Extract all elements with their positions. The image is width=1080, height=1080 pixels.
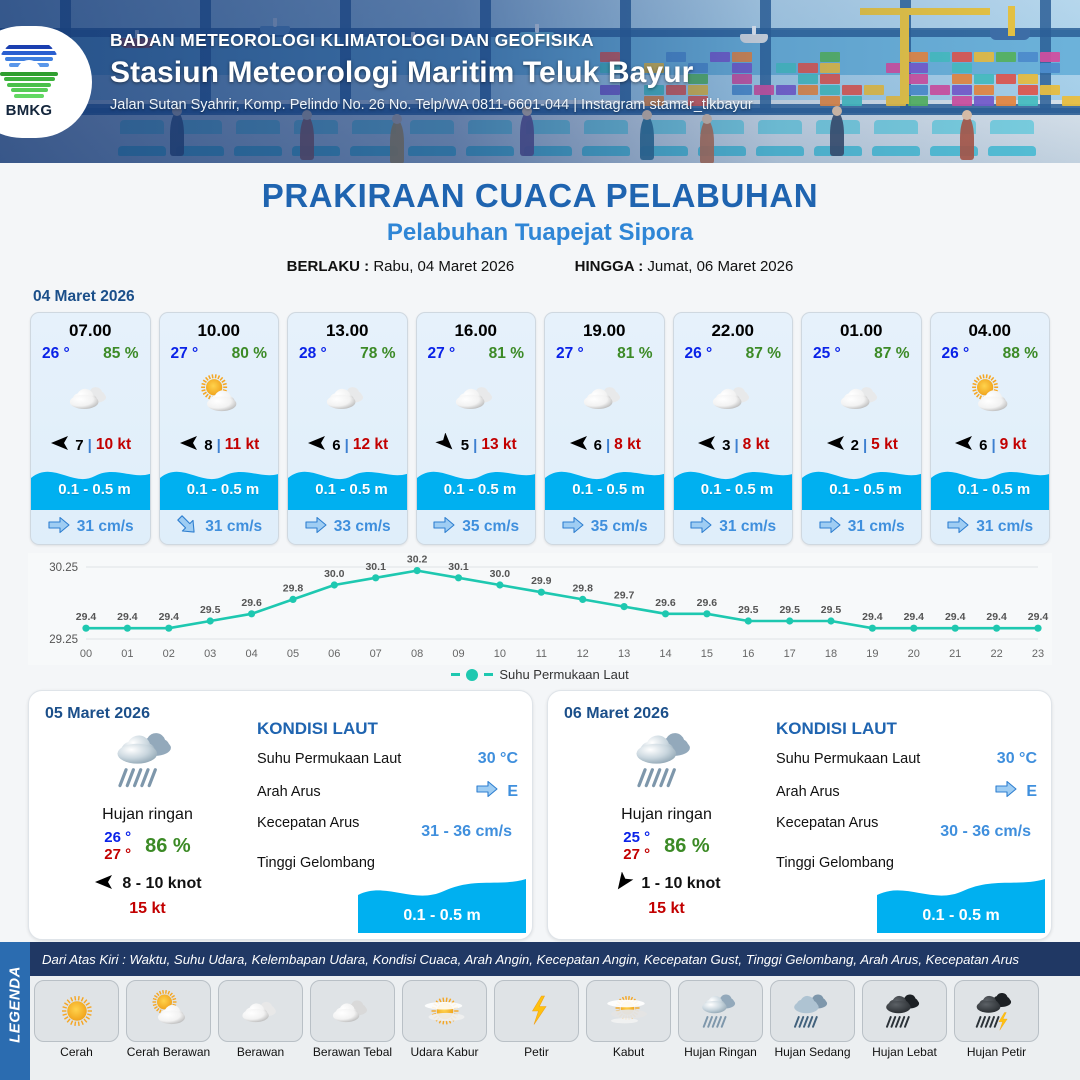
- daily-gust: 15 kt: [45, 900, 250, 918]
- card-gust: 10 kt: [96, 436, 131, 454]
- svg-text:29.6: 29.6: [655, 597, 676, 609]
- svg-text:01: 01: [121, 648, 133, 660]
- card-wave-height: 0.1 - 0.5 m: [288, 481, 408, 498]
- hourly-forecast-row: 07.0026 °85 %7|10 kt0.1 - 0.5 m31 cm/s10…: [0, 306, 1080, 545]
- card-wave: 0.1 - 0.5 m: [288, 462, 407, 510]
- card-wave: 0.1 - 0.5 m: [802, 462, 921, 510]
- card-humidity: 88 %: [1003, 345, 1038, 363]
- legend-item-label: Hujan Lebat: [862, 1045, 947, 1059]
- berawan-icon: [288, 366, 407, 428]
- svg-text:30.0: 30.0: [324, 568, 345, 580]
- hourly-card[interactable]: 07.0026 °85 %7|10 kt0.1 - 0.5 m31 cm/s: [30, 312, 151, 545]
- hujan-petir-icon: [954, 980, 1039, 1042]
- svg-text:00: 00: [80, 648, 92, 660]
- svg-text:08: 08: [411, 648, 423, 660]
- separator: |: [345, 437, 349, 454]
- svg-text:18: 18: [825, 648, 837, 660]
- legend-item-label: Petir: [494, 1045, 579, 1059]
- legend-item-label: Udara Kabur: [402, 1045, 487, 1059]
- legend-item: Hujan Petir: [954, 980, 1039, 1059]
- card-temperature: 25 °: [813, 345, 841, 363]
- legend-item: Cerah Berawan: [126, 980, 211, 1059]
- berawan-icon: [218, 980, 303, 1042]
- svg-text:29.5: 29.5: [738, 604, 759, 616]
- bmkg-logo-label: BMKG: [0, 102, 67, 119]
- hujan-sedang-icon: [770, 980, 855, 1042]
- card-current-speed: 31 cm/s: [976, 518, 1033, 536]
- svg-text:29.4: 29.4: [945, 611, 966, 623]
- cerah-icon: [34, 980, 119, 1042]
- svg-text:29.6: 29.6: [697, 597, 718, 609]
- valid-from-label: BERLAKU :: [287, 258, 370, 275]
- hourly-card[interactable]: 22.0026 °87 %3|8 kt0.1 - 0.5 m31 cm/s: [673, 312, 794, 545]
- kabut-icon: [586, 980, 671, 1042]
- hujan-lebat-icon: [862, 980, 947, 1042]
- wind-direction-icon: [825, 433, 847, 458]
- svg-text:22: 22: [990, 648, 1002, 660]
- petir-icon: [494, 980, 579, 1042]
- svg-text:29.9: 29.9: [531, 575, 552, 587]
- svg-text:11: 11: [536, 648, 547, 660]
- wind-direction-icon: [612, 872, 634, 897]
- legend-item-label: Hujan Sedang: [770, 1045, 855, 1059]
- svg-text:29.4: 29.4: [904, 611, 925, 623]
- current-direction-icon: [561, 515, 585, 540]
- current-direction-value: E: [1026, 783, 1037, 801]
- card-temperature: 26 °: [42, 345, 70, 363]
- wind-direction-icon: [696, 433, 718, 458]
- berawan-icon: [802, 366, 921, 428]
- wave-height-label: Tinggi Gelombang: [257, 855, 375, 871]
- card-temperature: 27 °: [428, 345, 456, 363]
- legend-item: Udara Kabur: [402, 980, 487, 1059]
- legend-line-icon: [451, 673, 460, 676]
- card-temperature: 27 °: [556, 345, 584, 363]
- current-direction-icon: [475, 779, 499, 804]
- card-temperature: 27 °: [171, 345, 199, 363]
- daily-temp-min: 25 °: [623, 829, 650, 846]
- svg-text:29.25: 29.25: [49, 634, 78, 646]
- svg-text:30.1: 30.1: [365, 561, 386, 573]
- separator: |: [473, 437, 477, 454]
- wind-direction-icon: [306, 433, 328, 458]
- validity-range: BERLAKU : Rabu, 04 Maret 2026 HINGGA : J…: [0, 258, 1080, 275]
- valid-from-value: Rabu, 04 Maret 2026: [373, 258, 514, 275]
- card-time: 22.00: [674, 313, 793, 341]
- udara-kabur-icon: [402, 980, 487, 1042]
- card-time: 01.00: [802, 313, 921, 341]
- current-speed-value: 30 - 36 cm/s: [940, 823, 1031, 841]
- daily-panels: 05 Maret 2026Hujan ringan26 °27 °86 %8 -…: [0, 682, 1080, 940]
- sst-chart: 30.2529.2529.40029.40129.40229.50329.604…: [28, 553, 1052, 665]
- legend-side-bar: LEGENDA: [0, 942, 30, 1080]
- daily-forecast-panel[interactable]: 05 Maret 2026Hujan ringan26 °27 °86 %8 -…: [28, 690, 533, 940]
- legend-item-label: Cerah Berawan: [126, 1045, 211, 1059]
- legend-item: Hujan Ringan: [678, 980, 763, 1059]
- svg-text:14: 14: [659, 648, 671, 660]
- hujan-ringan-icon: [564, 721, 769, 804]
- legend-item: Petir: [494, 980, 579, 1059]
- wind-direction-icon: [178, 433, 200, 458]
- card-wave-height: 0.1 - 0.5 m: [160, 481, 280, 498]
- daily-humidity: 86 %: [664, 835, 710, 858]
- current-speed-label: Kecepatan Arus: [257, 815, 359, 831]
- daily-wave-value: 0.1 - 0.5 m: [358, 907, 526, 925]
- sst-legend-label: Suhu Permukaan Laut: [499, 667, 628, 682]
- card-humidity: 81 %: [617, 345, 652, 363]
- card-gust: 9 kt: [1000, 436, 1027, 454]
- legend-item-label: Cerah: [34, 1045, 119, 1059]
- sst-label: Suhu Permukaan Laut: [257, 751, 401, 767]
- separator: |: [991, 437, 995, 454]
- daily-temp-min: 26 °: [104, 829, 131, 846]
- legend-item: Berawan: [218, 980, 303, 1059]
- separator: |: [217, 437, 221, 454]
- card-time: 19.00: [545, 313, 664, 341]
- card-wave-height: 0.1 - 0.5 m: [931, 481, 1051, 498]
- card-temperature: 26 °: [685, 345, 713, 363]
- card-humidity: 78 %: [360, 345, 395, 363]
- daily-condition: Hujan ringan: [564, 806, 769, 824]
- daily-humidity: 86 %: [145, 835, 191, 858]
- wind-direction-icon: [568, 433, 590, 458]
- card-wind-direction: 6: [332, 437, 340, 454]
- hourly-card[interactable]: 01.0025 °87 %2|5 kt0.1 - 0.5 m31 cm/s: [801, 312, 922, 545]
- svg-text:17: 17: [784, 648, 796, 660]
- agency-name: BADAN METEOROLOGI KLIMATOLOGI DAN GEOFIS…: [110, 30, 753, 51]
- legend-item-list: CerahCerah BerawanBerawanBerawan TebalUd…: [34, 980, 1074, 1059]
- svg-text:03: 03: [204, 648, 216, 660]
- daily-condition: Hujan ringan: [45, 806, 250, 824]
- legend-line-icon: [484, 673, 493, 676]
- hourly-date-label: 04 Maret 2026: [33, 288, 1080, 306]
- legend-item: Kabut: [586, 980, 671, 1059]
- legend-item: Hujan Lebat: [862, 980, 947, 1059]
- svg-text:29.8: 29.8: [283, 582, 304, 594]
- svg-text:29.7: 29.7: [614, 590, 635, 602]
- card-humidity: 87 %: [746, 345, 781, 363]
- card-wind-direction: 7: [75, 437, 83, 454]
- current-direction-icon: [175, 515, 199, 540]
- title-block: PRAKIRAAN CUACA PELABUHAN Pelabuhan Tuap…: [0, 163, 1080, 275]
- card-current-speed: 35 cm/s: [462, 518, 519, 536]
- legend-note: Dari Atas Kiri : Waktu, Suhu Udara, Kele…: [42, 952, 1019, 967]
- legend-strip: LEGENDA Dari Atas Kiri : Waktu, Suhu Uda…: [0, 942, 1080, 1080]
- hujan-ringan-icon: [45, 721, 250, 804]
- daily-wind-speed: 8 - 10 knot: [122, 875, 201, 893]
- page-header: BMKG BADAN METEOROLOGI KLIMATOLOGI DAN G…: [0, 0, 1080, 163]
- hujan-ringan-icon: [678, 980, 763, 1042]
- card-gust: 5 kt: [871, 436, 898, 454]
- valid-until-value: Jumat, 06 Maret 2026: [647, 258, 793, 275]
- card-humidity: 87 %: [874, 345, 909, 363]
- current-speed-value: 31 - 36 cm/s: [421, 823, 512, 841]
- sst-chart-legend: Suhu Permukaan Laut: [0, 667, 1080, 682]
- bmkg-logo-mark: [0, 38, 61, 102]
- card-time: 10.00: [160, 313, 279, 341]
- svg-text:29.4: 29.4: [1028, 611, 1049, 623]
- berawan-icon: [545, 366, 664, 428]
- svg-text:02: 02: [163, 648, 175, 660]
- wind-direction-icon: [435, 433, 457, 458]
- svg-text:20: 20: [908, 648, 920, 660]
- current-direction-icon: [432, 515, 456, 540]
- cerah-berawan-icon: [126, 980, 211, 1042]
- svg-text:29.4: 29.4: [986, 611, 1007, 623]
- current-direction-label: Arah Arus: [776, 784, 840, 800]
- card-temperature: 28 °: [299, 345, 327, 363]
- svg-text:07: 07: [370, 648, 382, 660]
- station-address: Jalan Sutan Syahrir, Komp. Pelindo No. 2…: [110, 97, 753, 113]
- svg-text:15: 15: [701, 648, 713, 660]
- daily-wind-speed: 1 - 10 knot: [641, 875, 720, 893]
- legend-note-bar: Dari Atas Kiri : Waktu, Suhu Udara, Kele…: [30, 942, 1080, 976]
- card-wave: 0.1 - 0.5 m: [545, 462, 664, 510]
- card-wave: 0.1 - 0.5 m: [417, 462, 536, 510]
- card-gust: 13 kt: [481, 436, 516, 454]
- svg-text:10: 10: [494, 648, 506, 660]
- card-time: 04.00: [931, 313, 1050, 341]
- card-time: 16.00: [417, 313, 536, 341]
- station-name: Stasiun Meteorologi Maritim Teluk Bayur: [110, 56, 753, 90]
- legend-item-label: Kabut: [586, 1045, 671, 1059]
- card-wave: 0.1 - 0.5 m: [160, 462, 279, 510]
- page-title: PRAKIRAAN CUACA PELABUHAN: [0, 177, 1080, 215]
- svg-text:06: 06: [328, 648, 340, 660]
- daily-wave-badge: 0.1 - 0.5 m: [358, 877, 526, 933]
- svg-text:29.4: 29.4: [117, 611, 138, 623]
- svg-text:29.5: 29.5: [200, 604, 221, 616]
- card-wave-height: 0.1 - 0.5 m: [31, 481, 151, 498]
- svg-text:30.25: 30.25: [49, 562, 78, 574]
- card-gust: 8 kt: [743, 436, 770, 454]
- svg-text:29.5: 29.5: [821, 604, 842, 616]
- sea-conditions-title: KONDISI LAUT: [257, 719, 518, 739]
- legend-item: Cerah: [34, 980, 119, 1059]
- current-direction-icon: [994, 779, 1018, 804]
- daily-gust: 15 kt: [564, 900, 769, 918]
- legend-item-label: Berawan Tebal: [310, 1045, 395, 1059]
- card-humidity: 80 %: [232, 345, 267, 363]
- wind-direction-icon: [93, 872, 115, 897]
- berawan-tebal-icon: [310, 980, 395, 1042]
- hourly-card[interactable]: 16.0027 °81 %5|13 kt0.1 - 0.5 m35 cm/s: [416, 312, 537, 545]
- current-speed-label: Kecepatan Arus: [776, 815, 878, 831]
- separator: |: [88, 437, 92, 454]
- hourly-card[interactable]: 13.0028 °78 %6|12 kt0.1 - 0.5 m33 cm/s: [287, 312, 408, 545]
- card-temperature: 26 °: [942, 345, 970, 363]
- daily-wave-badge: 0.1 - 0.5 m: [877, 877, 1045, 933]
- current-direction-label: Arah Arus: [257, 784, 321, 800]
- daily-forecast-panel[interactable]: 06 Maret 2026Hujan ringan25 °27 °86 %1 -…: [547, 690, 1052, 940]
- card-wave: 0.1 - 0.5 m: [674, 462, 793, 510]
- card-time: 13.00: [288, 313, 407, 341]
- card-current-speed: 33 cm/s: [334, 518, 391, 536]
- svg-text:12: 12: [577, 648, 589, 660]
- sea-conditions-title: KONDISI LAUT: [776, 719, 1037, 739]
- legend-item: Berawan Tebal: [310, 980, 395, 1059]
- current-direction-icon: [818, 515, 842, 540]
- legend-dot-icon: [466, 669, 478, 681]
- daily-temp-max: 27 °: [104, 846, 131, 863]
- card-current-speed: 31 cm/s: [77, 518, 134, 536]
- current-direction-icon: [47, 515, 71, 540]
- card-gust: 8 kt: [614, 436, 641, 454]
- svg-text:29.4: 29.4: [76, 611, 97, 623]
- card-wind-direction: 5: [461, 437, 469, 454]
- card-wave-height: 0.1 - 0.5 m: [674, 481, 794, 498]
- berawan-icon: [674, 366, 793, 428]
- svg-text:09: 09: [452, 648, 464, 660]
- svg-text:21: 21: [949, 648, 961, 660]
- cerah-berawan-icon: [931, 366, 1050, 428]
- card-wind-direction: 6: [979, 437, 987, 454]
- separator: |: [734, 437, 738, 454]
- card-current-speed: 35 cm/s: [591, 518, 648, 536]
- wind-direction-icon: [49, 433, 71, 458]
- card-gust: 11 kt: [225, 436, 259, 454]
- sst-value: 30 °C: [997, 750, 1037, 768]
- berawan-icon: [31, 366, 150, 428]
- legend-item-label: Berawan: [218, 1045, 303, 1059]
- current-direction-icon: [946, 515, 970, 540]
- current-direction-icon: [689, 515, 713, 540]
- svg-text:19: 19: [866, 648, 878, 660]
- legend-side-label: LEGENDA: [7, 954, 24, 1056]
- valid-until-label: HINGGA :: [575, 258, 644, 275]
- card-wind-direction: 3: [722, 437, 730, 454]
- svg-text:04: 04: [245, 648, 257, 660]
- card-humidity: 81 %: [489, 345, 524, 363]
- svg-text:30.0: 30.0: [490, 568, 511, 580]
- svg-text:29.4: 29.4: [159, 611, 180, 623]
- card-wave-height: 0.1 - 0.5 m: [417, 481, 537, 498]
- card-wind-direction: 8: [204, 437, 212, 454]
- legend-item-label: Hujan Ringan: [678, 1045, 763, 1059]
- cerah-berawan-icon: [160, 366, 279, 428]
- legend-item: Hujan Sedang: [770, 980, 855, 1059]
- card-wave: 0.1 - 0.5 m: [31, 462, 150, 510]
- card-wave-height: 0.1 - 0.5 m: [545, 481, 665, 498]
- page-subtitle: Pelabuhan Tuapejat Sipora: [0, 219, 1080, 247]
- svg-text:29.8: 29.8: [572, 582, 593, 594]
- card-time: 07.00: [31, 313, 150, 341]
- hourly-card[interactable]: 19.0027 °81 %6|8 kt0.1 - 0.5 m35 cm/s: [544, 312, 665, 545]
- card-current-speed: 31 cm/s: [719, 518, 776, 536]
- daily-wave-value: 0.1 - 0.5 m: [877, 907, 1045, 925]
- svg-text:23: 23: [1032, 648, 1044, 660]
- wave-height-label: Tinggi Gelombang: [776, 855, 894, 871]
- svg-text:30.2: 30.2: [407, 554, 428, 566]
- svg-text:29.6: 29.6: [241, 597, 262, 609]
- svg-text:29.5: 29.5: [779, 604, 800, 616]
- wind-direction-icon: [953, 433, 975, 458]
- svg-text:05: 05: [287, 648, 299, 660]
- svg-text:29.4: 29.4: [862, 611, 883, 623]
- hourly-card[interactable]: 04.0026 °88 %6|9 kt0.1 - 0.5 m31 cm/s: [930, 312, 1051, 545]
- current-direction-icon: [304, 515, 328, 540]
- daily-temp-max: 27 °: [623, 846, 650, 863]
- card-wind-direction: 2: [851, 437, 859, 454]
- card-gust: 12 kt: [353, 436, 388, 454]
- card-humidity: 85 %: [103, 345, 138, 363]
- card-current-speed: 31 cm/s: [205, 518, 262, 536]
- legend-item-label: Hujan Petir: [954, 1045, 1039, 1059]
- berawan-icon: [417, 366, 536, 428]
- svg-text:16: 16: [742, 648, 754, 660]
- svg-text:30.1: 30.1: [448, 561, 469, 573]
- card-wave: 0.1 - 0.5 m: [931, 462, 1050, 510]
- svg-text:13: 13: [618, 648, 630, 660]
- card-wave-height: 0.1 - 0.5 m: [802, 481, 922, 498]
- separator: |: [863, 437, 867, 454]
- hourly-card[interactable]: 10.0027 °80 %8|11 kt0.1 - 0.5 m31 cm/s: [159, 312, 280, 545]
- card-current-speed: 31 cm/s: [848, 518, 905, 536]
- current-direction-value: E: [507, 783, 518, 801]
- card-wind-direction: 6: [594, 437, 602, 454]
- sst-label: Suhu Permukaan Laut: [776, 751, 920, 767]
- sst-value: 30 °C: [478, 750, 518, 768]
- separator: |: [606, 437, 610, 454]
